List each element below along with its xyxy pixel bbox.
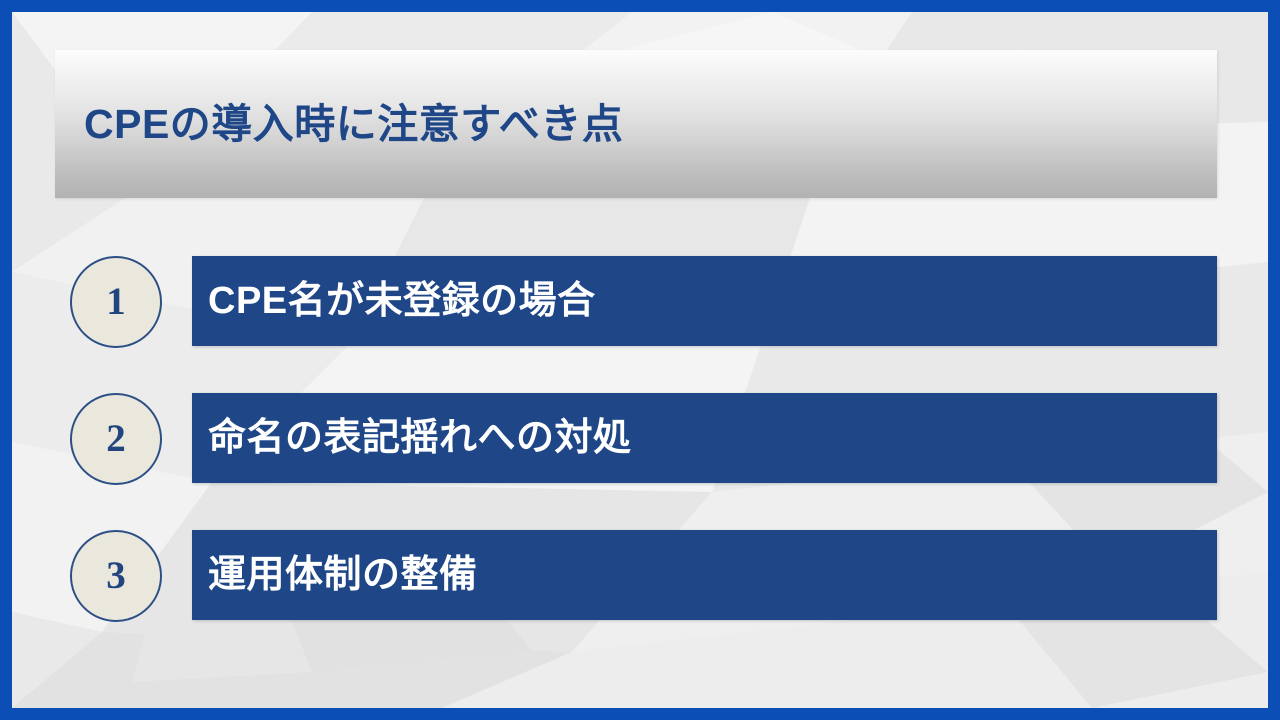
step-bar[interactable]: CPE名が未登録の場合 (192, 256, 1217, 346)
step-number-circle: 1 (70, 256, 162, 348)
step-label: CPE名が未登録の場合 (208, 282, 596, 320)
step-number: 2 (106, 419, 126, 458)
step-bar[interactable]: 運用体制の整備 (192, 530, 1217, 620)
step-number: 1 (106, 282, 126, 321)
list-item[interactable]: 1 CPE名が未登録の場合 (12, 256, 1268, 348)
slide: CPEの導入時に注意すべき点 1 CPE名が未登録の場合 2 命名の表記揺れへの… (0, 0, 1280, 720)
slide-canvas: CPEの導入時に注意すべき点 1 CPE名が未登録の場合 2 命名の表記揺れへの… (12, 12, 1268, 708)
step-label: 運用体制の整備 (208, 556, 478, 594)
step-number-circle: 2 (70, 393, 162, 485)
step-bar[interactable]: 命名の表記揺れへの対処 (192, 393, 1217, 483)
list-item[interactable]: 2 命名の表記揺れへの対処 (12, 393, 1268, 485)
step-label: 命名の表記揺れへの対処 (208, 419, 632, 457)
step-number: 3 (106, 556, 126, 595)
numbered-list: 1 CPE名が未登録の場合 2 命名の表記揺れへの対処 3 (12, 12, 1268, 708)
list-item[interactable]: 3 運用体制の整備 (12, 530, 1268, 622)
step-number-circle: 3 (70, 530, 162, 622)
